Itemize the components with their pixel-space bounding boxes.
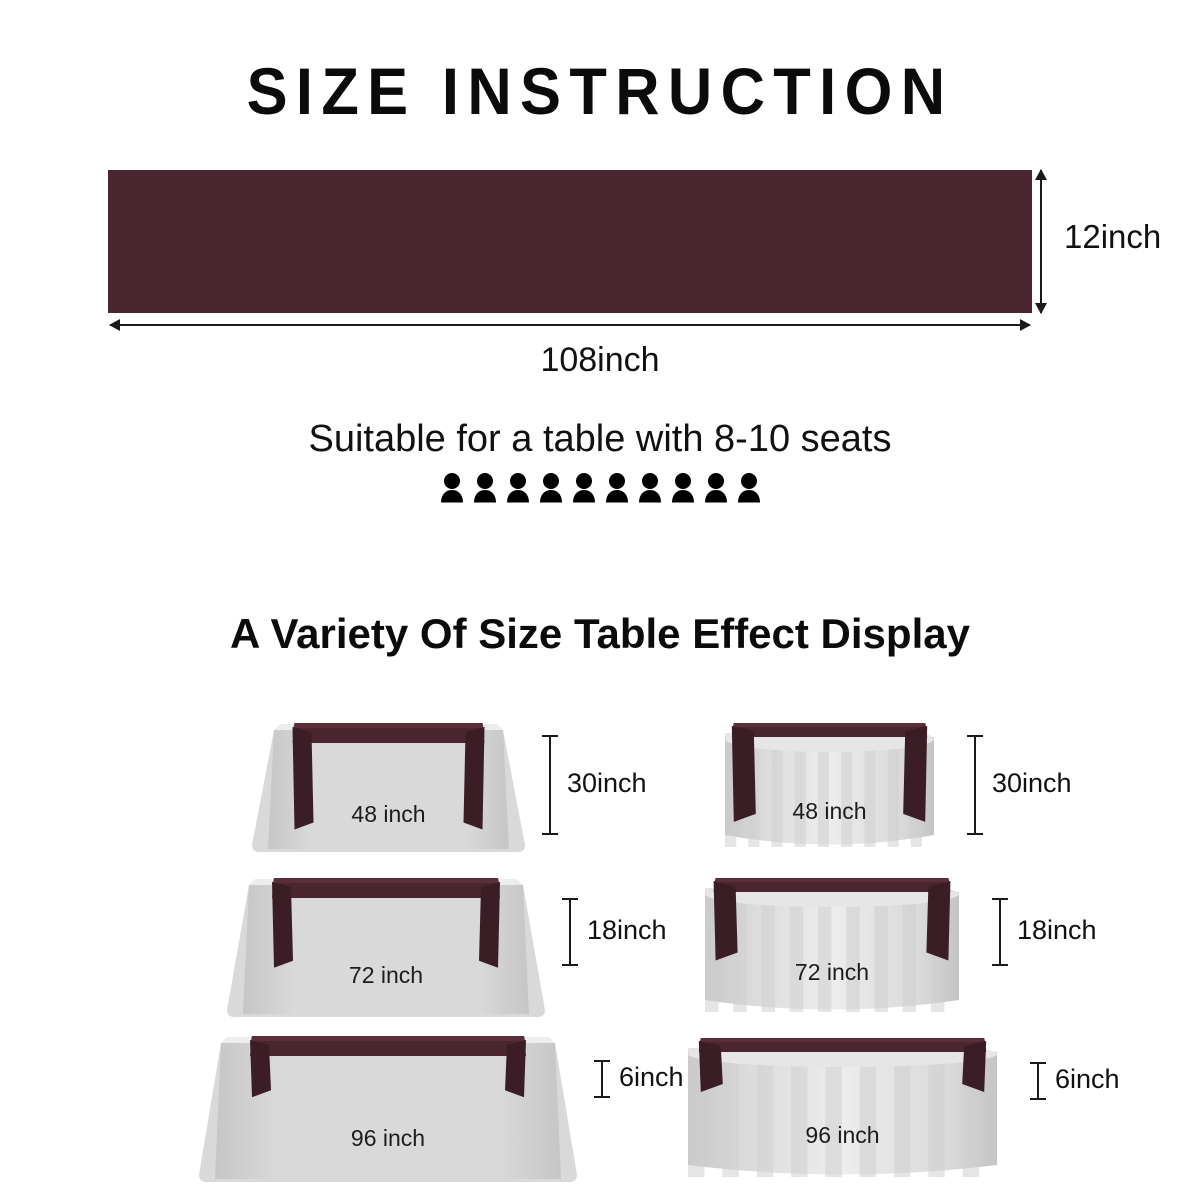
person-icon (736, 472, 762, 504)
person-icon (703, 472, 729, 504)
rectangular-table-cell: 96 inch6inch (175, 1020, 605, 1185)
table-size-label: 96 inch (668, 1122, 1017, 1149)
table-size-label: 48 inch (705, 798, 954, 825)
table-drop-label: 18inch (1017, 915, 1097, 946)
table-drop-dimension-bracket (549, 735, 551, 835)
seating-icon-row (0, 472, 1200, 504)
table-effect-grid: 48 inch30inch48 inch30inch72 inch18inch7… (0, 690, 1200, 1185)
person-icon (505, 472, 531, 504)
person-icon (571, 472, 597, 504)
person-icon (472, 472, 498, 504)
round-table-illustration (705, 719, 954, 855)
round-table-illustration (685, 874, 979, 1020)
table-size-label: 48 inch (250, 801, 527, 828)
table-row: 48 inch30inch48 inch30inch (0, 690, 1200, 855)
rectangular-table-illustration (197, 1034, 579, 1185)
table-drop-label: 30inch (992, 768, 1072, 799)
table-drop-dimension-bracket (601, 1060, 603, 1098)
person-icon (439, 472, 465, 504)
table-size-label: 72 inch (685, 959, 979, 986)
table-drop-label: 30inch (567, 768, 647, 799)
table-size-label: 96 inch (197, 1125, 579, 1152)
person-icon (538, 472, 564, 504)
banner-width-label: 108inch (0, 341, 1200, 380)
table-drop-dimension-bracket (974, 735, 976, 835)
round-table-cell: 72 inch18inch (650, 855, 1090, 1020)
page-title: SIZE INSTRUCTION (42, 58, 1158, 124)
table-row: 96 inch6inch96 inch6inch (0, 1020, 1200, 1185)
table-drop-dimension-bracket (999, 898, 1001, 966)
rectangular-table-illustration (250, 721, 527, 855)
person-icon (670, 472, 696, 504)
round-table-cell: 96 inch6inch (650, 1020, 1090, 1185)
table-row: 72 inch18inch72 inch18inch (0, 855, 1200, 1020)
table-drop-dimension-bracket (569, 898, 571, 966)
table-drop-dimension-bracket (1037, 1062, 1039, 1100)
round-table-illustration (668, 1034, 1017, 1185)
person-icon (604, 472, 630, 504)
rectangular-table-cell: 48 inch30inch (175, 690, 605, 855)
round-table-cell: 48 inch30inch (650, 690, 1090, 855)
table-drop-label: 6inch (1055, 1064, 1120, 1095)
seating-capacity-text: Suitable for a table with 8-10 seats (0, 418, 1200, 461)
runner-banner-swatch (108, 170, 1032, 313)
person-icon (637, 472, 663, 504)
table-size-label: 72 inch (225, 962, 547, 989)
banner-height-dimension-arrow (1040, 170, 1042, 313)
rectangular-table-illustration (225, 876, 547, 1020)
banner-width-dimension-arrow (110, 324, 1030, 326)
section-heading: A Variety Of Size Table Effect Display (0, 610, 1200, 658)
banner-height-label: 12inch (1064, 218, 1161, 256)
rectangular-table-cell: 72 inch18inch (175, 855, 605, 1020)
